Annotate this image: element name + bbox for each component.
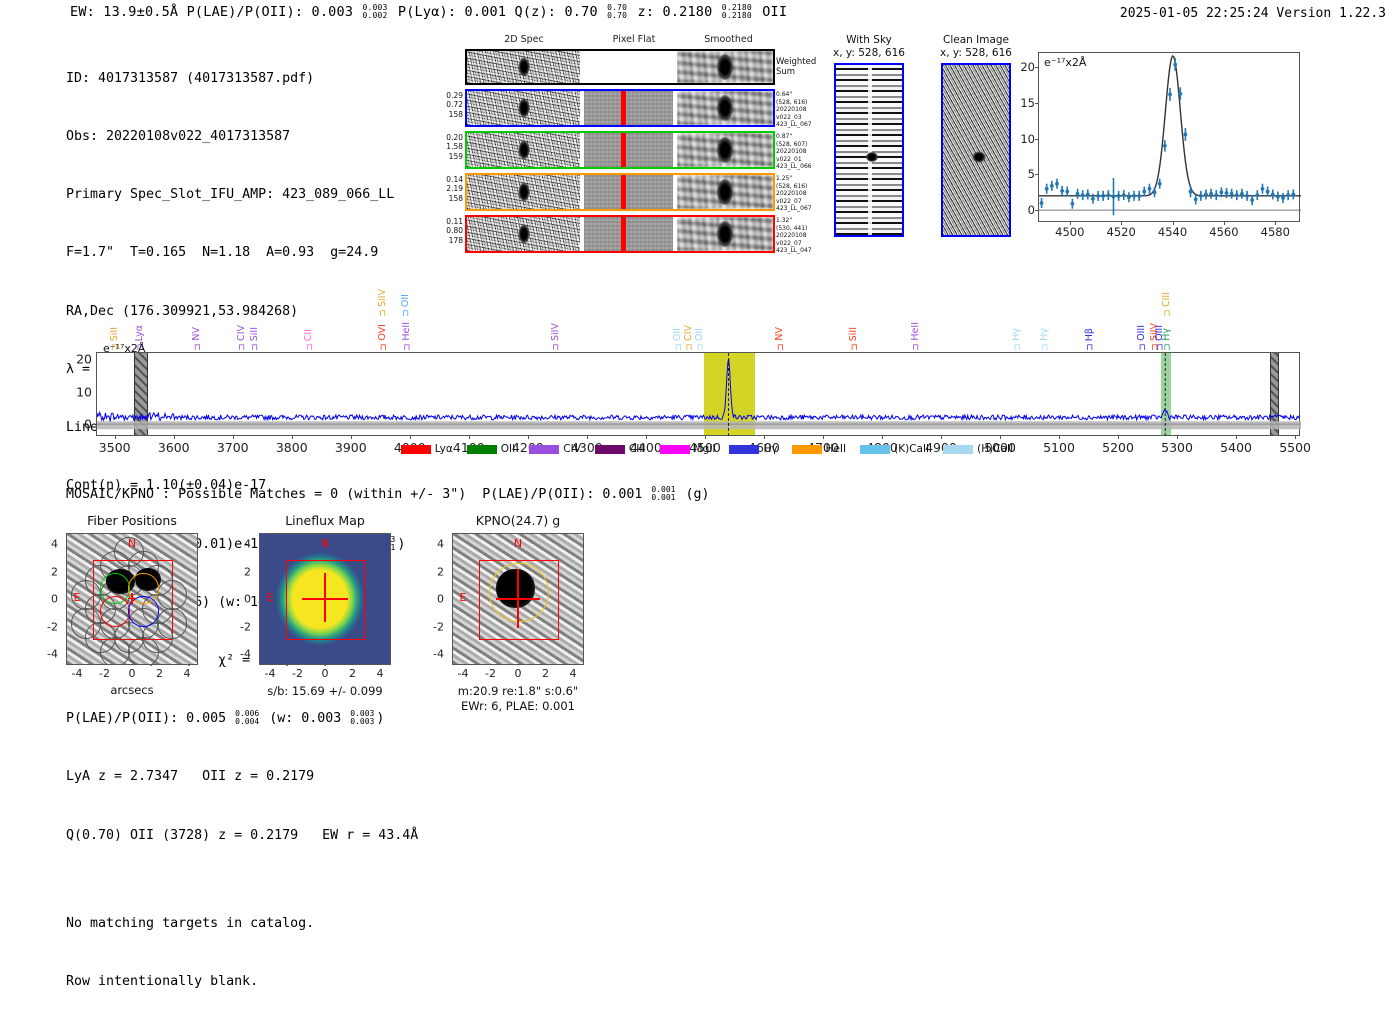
mosaic-headline-prefix: MOSAIC/KPNO : Possible Matches = 0 (with…: [66, 487, 650, 502]
line-marker-name: CIV: [237, 325, 247, 341]
spectrum-line-marker: OVI⊓: [378, 324, 388, 353]
axis-tick: [1035, 210, 1039, 211]
weighted-pixelflat-image: [584, 51, 673, 83]
line-marker-name: CIII: [1162, 292, 1172, 307]
z-bounds: 0.21800.2180: [722, 4, 752, 20]
line-marker-name: NV: [192, 327, 202, 341]
line-marker-name: SiII: [250, 327, 260, 341]
axis-tick-label: -2: [47, 620, 58, 633]
axis-tick-label: 4: [244, 538, 251, 551]
line-marker-bracket: ⊓: [192, 343, 202, 353]
line-marker-bracket: ⊓: [911, 343, 921, 353]
axis-tick-label: 2: [156, 667, 163, 680]
col-header-2dspec: 2D Spec: [465, 34, 583, 45]
line-profile-plot: e⁻¹⁷x2Å 0510152045004520454045604580: [1038, 52, 1300, 222]
line-marker-bracket: ⊓: [551, 343, 561, 353]
info-line-id: ID: 4017313587 (4017313587.pdf): [66, 69, 418, 88]
axis-tick-label: 4580: [1261, 225, 1290, 239]
line-marker-name: CII: [304, 329, 314, 341]
line-marker-bracket: ⊓: [237, 343, 247, 353]
fiber-4-2dspec: [467, 217, 580, 251]
info-line-obs: Obs: 20220108v022_4017313587: [66, 127, 418, 146]
line-marker-bracket: ⊓: [695, 343, 705, 353]
axis-tick-label: -4: [47, 648, 58, 661]
spectrum-line-marker: SiII⊓: [250, 327, 260, 353]
line-marker-name: CIV: [684, 325, 694, 341]
compass-north-kpno: N: [514, 537, 522, 550]
legend-label: HeII: [826, 443, 847, 455]
axis-tick-label: -2: [433, 620, 444, 633]
axis-tick-label: 4500: [1055, 225, 1084, 239]
line-marker-bracket: ⊓: [1137, 343, 1147, 353]
with-sky-image: [834, 63, 904, 237]
fiber-2-smoothed: [677, 133, 773, 167]
lineflux-map-axes: N E: [259, 533, 391, 665]
weighted-smoothed-image: [677, 51, 773, 83]
z-lower: 0.2180: [722, 12, 752, 20]
axis-tick-label: 0: [84, 417, 92, 432]
line-marker-bracket: ⊓: [1085, 343, 1095, 353]
spectrum-line-marker: Hγ⊓: [1162, 328, 1172, 353]
mosaic-headline-suffix: (g): [678, 487, 710, 502]
legend-swatch: [792, 445, 822, 454]
legend-swatch: [529, 445, 559, 454]
clean-image: [941, 63, 1011, 237]
full-spectrum-unit-label: e⁻¹⁷x2Å: [103, 342, 145, 355]
plae-w-close: ): [376, 711, 384, 726]
line-marker-name: OII: [401, 294, 411, 307]
line-marker-bracket: ⊓: [684, 343, 694, 353]
legend-swatch: [467, 445, 497, 454]
compass-east-fiber: E: [74, 591, 81, 604]
compass-east-kpno: E: [460, 591, 467, 604]
axis-tick-label: 0: [515, 667, 522, 680]
axis-tick-label: -2: [292, 667, 303, 680]
fiber-3-pixelflat: [584, 175, 673, 209]
weighted-sum-label: Weighted Sum: [776, 57, 816, 77]
line-marker-name: NV: [775, 327, 785, 341]
legend-swatch: [943, 445, 973, 454]
spectrum-line-marker: CII⊓: [304, 329, 314, 353]
line-marker-bracket: ⊓: [1162, 343, 1172, 353]
col-header-smoothed: Smoothed: [682, 34, 775, 45]
lineflux-cross-v: [324, 573, 326, 622]
legend-label: Hγ: [763, 443, 777, 455]
line-marker-name: Hγ: [1162, 328, 1172, 341]
axis-tick-label: 10: [76, 384, 92, 399]
info-line-redshifts: LyA z = 2.7347 OII z = 0.2179: [66, 767, 418, 786]
fiber-row-3-left-meta: 0.14 2.19 158: [446, 175, 463, 203]
axis-tick-label: 2: [349, 667, 356, 680]
axis-tick-label: -4: [458, 667, 469, 680]
spectrum-line-marker: Hβ⊓: [1085, 328, 1095, 353]
line-marker-bracket: ⊓: [1162, 309, 1172, 319]
line-marker-name: HeII: [911, 322, 921, 341]
fiber-3-smoothed: [677, 175, 773, 209]
axis-tick-label: 5: [1028, 167, 1035, 181]
weighted-2dspec-image: [467, 51, 580, 83]
qz-bounds: 0.700.70: [607, 4, 627, 20]
plae-text: P(LAE)/P(OII): 0.005: [66, 711, 234, 726]
fiber-circle-red: [100, 596, 131, 627]
spectrum-line-marker: SiIV⊓: [378, 289, 388, 319]
axis-tick-label: 2: [437, 565, 444, 578]
line-marker-name: Hγ: [1012, 328, 1022, 341]
legend-label: (K)CaII: [894, 443, 929, 455]
axis-tick-label: 4520: [1107, 225, 1136, 239]
header-summary-mid: P(Lyα): 0.001 Q(z): 0.70: [390, 4, 607, 20]
axis-tick-label: 4560: [1209, 225, 1238, 239]
spec2d-rows: Weighted Sum 0.29 0.72 158 0.64" (528, 6…: [465, 49, 775, 257]
mosaic-headline: MOSAIC/KPNO : Possible Matches = 0 (with…: [66, 486, 710, 502]
axis-tick: [1224, 221, 1225, 225]
axis-tick: [1035, 67, 1039, 68]
spectrum-line-marker: OII⊓: [695, 328, 705, 353]
fiber-row-2-right-meta: 0.87" (528, 607) 20220108 v022_01 423_LL…: [776, 133, 812, 171]
lineflux-footer: s/b: 15.69 +/- 0.099: [229, 684, 421, 698]
plae-n-lower: 0.004: [235, 718, 259, 726]
axis-tick-label: 0: [1028, 203, 1035, 217]
legend-label: Lyα: [435, 443, 453, 455]
cutout-clean-coords: x, y: 528, 616: [928, 47, 1024, 60]
timestamp-version: 2025-01-05 22:25:24 Version 1.22.3: [1120, 6, 1386, 21]
fiber-1-smoothed: [677, 91, 773, 125]
footer-line-1: No matching targets in catalog.: [66, 914, 314, 933]
plae-w-bounds: 0.0030.003: [350, 710, 374, 726]
plae-w-lower: 0.003: [350, 718, 374, 726]
fiber-4-pixelflat: [584, 217, 673, 251]
qz-lower: 0.70: [607, 12, 627, 20]
fiber-row-4-right-meta: 1.32" (530, 441) 20220108 v022_07 423_LL…: [776, 217, 812, 255]
axis-tick-label: 0: [437, 593, 444, 606]
fiber-row-1-left-meta: 0.29 0.72 158: [446, 91, 463, 119]
axis-tick-label: 4: [184, 667, 191, 680]
axis-tick-label: -4: [72, 667, 83, 680]
plae-n-bounds: 0.0060.004: [235, 710, 259, 726]
axis-tick-label: 20: [76, 352, 92, 367]
spectrum-line-marker: SiIV⊓: [551, 323, 561, 353]
line-marker-name: SiIV: [551, 323, 561, 341]
kpno-cross-v: [517, 569, 519, 628]
cutout-with-sky-coords: x, y: 528, 616: [828, 47, 910, 60]
axis-tick: [1070, 221, 1071, 225]
line-marker-name: SiIV: [378, 289, 388, 307]
kpno-title: KPNO(24.7) g: [452, 513, 584, 528]
full-spectrum-plot: e⁻¹⁷x2Å 01020350036003700380039004000410…: [96, 352, 1300, 436]
spec2d-panel-group: 2D Spec Pixel Flat Smoothed Weighted Sum…: [430, 34, 780, 260]
axis-tick: [1035, 139, 1039, 140]
legend-swatch: [860, 445, 890, 454]
line-marker-bracket: ⊓: [402, 343, 412, 353]
axis-tick-label: 2: [244, 565, 251, 578]
legend-label: MgII: [694, 443, 716, 455]
fiber-1-pixelflat: [584, 91, 673, 125]
info-line-primary-spec: Primary Spec_Slot_IFU_AMP: 423_089_066_L…: [66, 185, 418, 204]
line-marker-name: SiII: [849, 327, 859, 341]
header-summary-line: EW: 13.9±0.5Å P(LAE)/P(OII): 0.003 0.003…: [70, 4, 787, 20]
line-marker-name: OII: [673, 328, 683, 341]
line-marker-bracket: ⊓: [401, 309, 411, 319]
kpno-footer-1: m:20.9 re:1.8" s:0.6": [422, 684, 614, 698]
axis-tick-label: -4: [265, 667, 276, 680]
axis-tick: [1035, 103, 1039, 104]
compass-north-fiber: N: [128, 537, 136, 550]
fiber-4-smoothed: [677, 217, 773, 251]
target-cross-v: [131, 593, 133, 605]
legend-label: (H)CaII: [977, 443, 1013, 455]
cont-w-close: ): [397, 537, 405, 552]
axis-tick-label: 0: [51, 593, 58, 606]
line-marker-bracket: ⊓: [378, 309, 388, 319]
fiber-xlabel: arcsecs: [36, 683, 228, 697]
line-marker-bracket: ⊓: [1040, 343, 1050, 353]
lineflux-ifu-box: [286, 560, 366, 640]
line-marker-name: HeII: [402, 322, 412, 341]
line-marker-bracket: ⊓: [250, 343, 260, 353]
col-header-pixelflat: Pixel Flat: [588, 34, 680, 45]
fiber-3-2dspec: [467, 175, 580, 209]
axis-tick-label: -4: [240, 648, 251, 661]
axis-tick-label: 4: [377, 667, 384, 680]
line-marker-name: SiII: [110, 327, 120, 341]
header-summary-prefix: EW: 13.9±0.5Å P(LAE)/P(OII): 0.003: [70, 4, 361, 20]
line-marker-name: OIII: [1137, 325, 1147, 341]
header-summary-mid2: z: 0.2180: [629, 4, 721, 20]
axis-tick-label: 20: [1020, 60, 1035, 74]
axis-tick-label: 4: [570, 667, 577, 680]
spectrum-line-marker: CIII⊓: [1162, 292, 1172, 319]
info-line-plae: P(LAE)/P(OII): 0.005 0.0060.004 (w: 0.00…: [66, 709, 418, 728]
axis-tick-label: -2: [99, 667, 110, 680]
spectrum-line-marker: OII⊓: [401, 294, 411, 319]
axis-tick: [1121, 221, 1122, 225]
spectrum-line-marker: CIV⊓: [684, 325, 694, 353]
fiber-row-3-right-meta: 1.25" (528, 616) 20220108 v022_07 423_LL…: [776, 175, 812, 213]
spectrum-line-marker: NV⊓: [192, 327, 202, 353]
axis-tick-label: 4: [437, 538, 444, 551]
info-line-radec: RA,Dec (176.309921,53.984268): [66, 302, 418, 321]
mosaic-plae-bounds: 0.0010.001: [651, 486, 675, 502]
legend-swatch: [401, 445, 431, 454]
line-marker-bracket: ⊓: [1012, 343, 1022, 353]
axis-tick-label: 0: [322, 667, 329, 680]
kpno-footer-2: EWr: 6, PLAE: 0.001: [422, 699, 614, 713]
line-marker-name: OVI: [378, 324, 388, 341]
mosaic-plae-lower: 0.001: [651, 494, 675, 502]
lineflux-map-title: Lineflux Map: [259, 513, 391, 528]
fiber-2-2dspec: [467, 133, 580, 167]
spectrum-line-marker: Hγ⊓: [1040, 328, 1050, 353]
axis-tick: [1173, 221, 1174, 225]
plae-w-text: (w: 0.003: [261, 711, 349, 726]
line-profile-svg: [1039, 53, 1301, 223]
axis-tick: [1275, 221, 1276, 225]
fiber-positions-panel: Fiber Positions N E arcsecs -: [66, 533, 198, 665]
footer-note: No matching targets in catalog. Row inte…: [66, 875, 314, 1011]
spectrum-legend: LyαOIICIVCIIIMgIIHγHeII(K)CaII(H)CaII: [0, 443, 1400, 455]
info-line-seeing: F=1.7" T=0.165 N=1.18 A=0.93 g=24.9: [66, 243, 418, 262]
axis-tick-label: 10: [1020, 132, 1035, 146]
fiber-row-1: 0.29 0.72 158 0.64" (528, 616) 20220108 …: [465, 89, 775, 127]
spectrum-line-marker: Hγ⊓: [1012, 328, 1022, 353]
axis-tick-label: 4: [51, 538, 58, 551]
fiber-1-2dspec: [467, 91, 580, 125]
axis-tick-label: -2: [485, 667, 496, 680]
spectrum-line-marker: OIII⊓: [1137, 325, 1147, 353]
plae-lower: 0.002: [362, 12, 387, 20]
fiber-row-3: 0.14 2.19 158 1.25" (528, 616) 20220108 …: [465, 173, 775, 211]
cutout-with-sky: With Sky x, y: 528, 616: [828, 34, 910, 237]
fiber-positions-axes: N E: [66, 533, 198, 665]
legend-swatch: [595, 445, 625, 454]
axis-tick-label: -4: [433, 648, 444, 661]
cutout-clean-image: Clean Image x, y: 528, 616: [928, 34, 1024, 237]
line-marker-bracket: ⊓: [673, 343, 683, 353]
legend-label: OII: [501, 443, 515, 455]
fiber-2-pixelflat: [584, 133, 673, 167]
spectrum-line-marker: OII⊓: [673, 328, 683, 353]
fiber-row-2: 0.20 1.58 159 0.87" (528, 607) 20220108 …: [465, 131, 775, 169]
fiber-row-2-left-meta: 0.20 1.58 159: [446, 133, 463, 161]
line-marker-name: Hγ: [1040, 328, 1050, 341]
info-line-qz-solution: Q(0.70) OII (3728) z = 0.2179 EW r = 43.…: [66, 826, 418, 845]
line-marker-name: Lyα: [135, 325, 145, 341]
legend-swatch: [660, 445, 690, 454]
lineflux-map-panel: Lineflux Map N E s/b: 15.69 +/- 0.099 -4…: [259, 533, 391, 665]
spectrum-line-marker: CIV⊓: [237, 325, 247, 353]
fiber-row-4: 0.11 0.80 178 1.32" (530, 441) 20220108 …: [465, 215, 775, 253]
spectrum-line-marker: HeII⊓: [911, 322, 921, 353]
compass-east-lineflux: E: [267, 591, 274, 604]
footer-line-2: Row intentionally blank.: [66, 972, 314, 991]
legend-swatch: [729, 445, 759, 454]
spectrum-line-marker: NV⊓: [775, 327, 785, 353]
header-summary-suffix: OII: [754, 4, 787, 20]
fiber-row-4-left-meta: 0.11 0.80 178: [446, 217, 463, 245]
full-spectrum-svg: [97, 353, 1301, 437]
legend-label: CIII: [629, 443, 646, 455]
spectrum-line-marker: SiII⊓: [849, 327, 859, 353]
fiber-positions-title: Fiber Positions: [66, 513, 198, 528]
line-marker-bracket: ⊓: [304, 343, 314, 353]
weighted-sum-row: Weighted Sum: [465, 49, 775, 85]
axis-tick-label: 2: [542, 667, 549, 680]
axis-tick-label: 0: [129, 667, 136, 680]
kpno-aperture-circle: [489, 563, 548, 622]
cutout-with-sky-title: With Sky: [828, 34, 910, 47]
line-marker-bracket: ⊓: [775, 343, 785, 353]
axis-tick-label: 15: [1020, 96, 1035, 110]
spectrum-line-marker: HeII⊓: [402, 322, 412, 353]
kpno-axes: N E: [452, 533, 584, 665]
fiber-row-1-right-meta: 0.64" (528, 616) 20220108 v022_03 423_LL…: [776, 91, 812, 129]
line-marker-bracket: ⊓: [378, 343, 388, 353]
plae-ratio-bounds: 0.0030.002: [362, 4, 387, 20]
line-marker-bracket: ⊓: [849, 343, 859, 353]
axis-tick-label: -2: [240, 620, 251, 633]
axis-tick: [1035, 174, 1039, 175]
axis-tick-label: 4540: [1158, 225, 1187, 239]
axis-tick-label: 2: [51, 565, 58, 578]
kpno-panel: KPNO(24.7) g N E m:20.9 re:1.8" s:0.6" E…: [452, 533, 584, 665]
compass-north-lineflux: N: [321, 537, 329, 550]
legend-label: CIV: [563, 443, 581, 455]
line-marker-name: Hβ: [1085, 328, 1095, 341]
cutout-clean-title: Clean Image: [928, 34, 1024, 47]
axis-tick-label: 0: [244, 593, 251, 606]
line-marker-name: OII: [695, 328, 705, 341]
